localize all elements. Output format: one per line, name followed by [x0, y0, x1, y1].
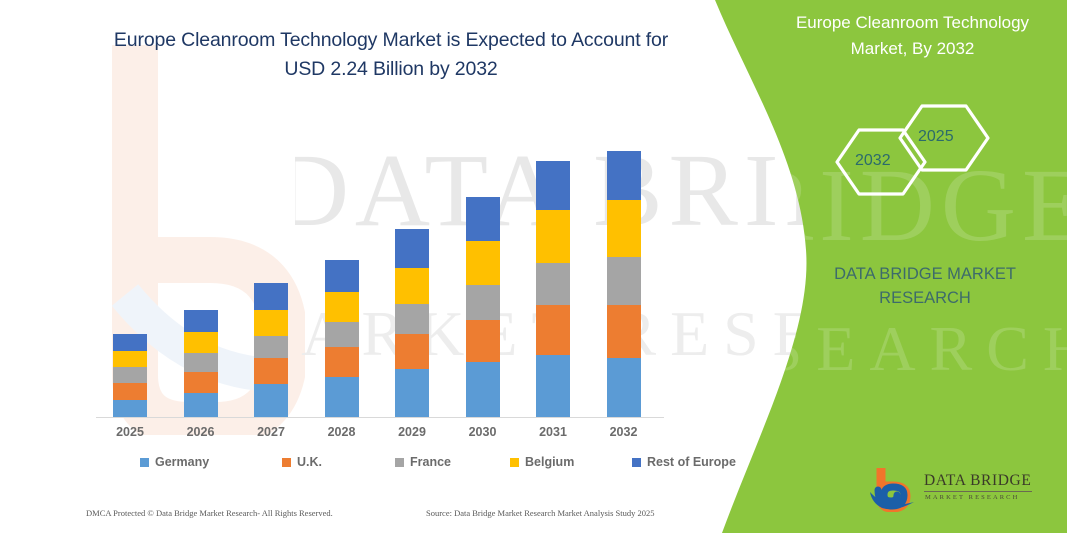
bar-segment-france-2032: [607, 257, 641, 305]
bar-segment-belgium-2032: [607, 200, 641, 257]
db-logo-mark: [868, 468, 920, 512]
bar-segment-france-2028: [325, 322, 359, 347]
x-axis-labels: 20252026202720282029203020312032: [96, 425, 666, 445]
bar-segment-u-k-2028: [325, 347, 359, 377]
company-logo: DATA BRIDGE MARKET RESEARCH: [868, 468, 1038, 514]
x-axis-label-2032: 2032: [594, 425, 654, 439]
bar-segment-rest-of-europe-2025: [113, 334, 147, 351]
bar-stack-2032: [607, 151, 641, 417]
x-axis-label-2031: 2031: [523, 425, 583, 439]
legend-swatch-icon: [140, 458, 149, 467]
bar-segment-u-k-2026: [184, 372, 218, 393]
legend-item-germany[interactable]: Germany: [140, 455, 209, 469]
bar-segment-belgium-2027: [254, 310, 288, 336]
bar-segment-belgium-2031: [536, 210, 570, 263]
bar-segment-france-2026: [184, 353, 218, 372]
x-axis-label-2027: 2027: [241, 425, 301, 439]
footer-copyright: DMCA Protected © Data Bridge Market Rese…: [86, 508, 333, 518]
legend-swatch-icon: [282, 458, 291, 467]
x-axis-label-2026: 2026: [171, 425, 231, 439]
bar-segment-rest-of-europe-2027: [254, 283, 288, 310]
infographic-canvas: DATA BRIDGE MARKET RESEARCH BRIDGE RESEA…: [0, 0, 1067, 533]
legend-label: France: [410, 455, 451, 469]
chart-title: Europe Cleanroom Technology Market is Ex…: [96, 26, 686, 84]
bar-segment-germany-2026: [184, 393, 218, 417]
bar-segment-rest-of-europe-2031: [536, 161, 570, 210]
bar-stack-2031: [536, 161, 570, 417]
legend-label: Belgium: [525, 455, 574, 469]
bar-segment-germany-2027: [254, 384, 288, 417]
x-axis-label-2028: 2028: [312, 425, 372, 439]
bar-segment-france-2027: [254, 336, 288, 358]
brand-name: DATA BRIDGE MARKET RESEARCH: [800, 262, 1050, 310]
bar-segment-rest-of-europe-2030: [466, 197, 500, 241]
legend-swatch-icon: [632, 458, 641, 467]
bar-segment-rest-of-europe-2029: [395, 229, 429, 268]
bar-segment-france-2031: [536, 263, 570, 305]
bar-stack-2026: [184, 310, 218, 417]
bar-segment-france-2029: [395, 304, 429, 334]
legend-item-u-k[interactable]: U.K.: [282, 455, 322, 469]
bar-stack-2027: [254, 283, 288, 417]
bar-segment-rest-of-europe-2026: [184, 310, 218, 332]
x-axis-line: [96, 417, 664, 418]
legend-swatch-icon: [395, 458, 404, 467]
bar-segment-u-k-2032: [607, 305, 641, 358]
svg-text:RESEARCH: RESEARCH: [657, 313, 1067, 384]
bar-segment-u-k-2025: [113, 383, 147, 400]
bar-segment-belgium-2029: [395, 268, 429, 304]
chart-legend: GermanyU.K.FranceBelgiumRest of Europe: [110, 455, 670, 475]
bar-segment-u-k-2030: [466, 320, 500, 362]
legend-label: U.K.: [297, 455, 322, 469]
footer-source: Source: Data Bridge Market Research Mark…: [426, 508, 655, 518]
bar-stack-2029: [395, 229, 429, 417]
legend-label: Rest of Europe: [647, 455, 736, 469]
legend-item-belgium[interactable]: Belgium: [510, 455, 574, 469]
bar-segment-germany-2025: [113, 400, 147, 417]
legend-swatch-icon: [510, 458, 519, 467]
bar-segment-germany-2028: [325, 377, 359, 417]
bar-segment-germany-2032: [607, 358, 641, 417]
bar-segment-belgium-2030: [466, 241, 500, 285]
bar-segment-france-2025: [113, 367, 147, 383]
bar-segment-germany-2029: [395, 369, 429, 417]
bar-chart-plot-area: [96, 140, 666, 418]
x-axis-label-2025: 2025: [100, 425, 160, 439]
x-axis-label-2029: 2029: [382, 425, 442, 439]
logo-text-main: DATA BRIDGE: [924, 472, 1031, 490]
bar-segment-u-k-2029: [395, 334, 429, 369]
x-axis-label-2030: 2030: [453, 425, 513, 439]
bar-segment-rest-of-europe-2028: [325, 260, 359, 292]
bar-segment-belgium-2026: [184, 332, 218, 353]
bar-stack-2030: [466, 197, 500, 417]
bar-segment-germany-2030: [466, 362, 500, 417]
bar-segment-belgium-2025: [113, 351, 147, 367]
legend-label: Germany: [155, 455, 209, 469]
side-panel-title: Europe Cleanroom Technology Market, By 2…: [770, 10, 1055, 62]
bar-segment-germany-2031: [536, 355, 570, 417]
hexagon-2032-label: 2032: [855, 152, 891, 170]
bar-stack-2028: [325, 260, 359, 417]
legend-item-rest-of-europe[interactable]: Rest of Europe: [632, 455, 736, 469]
bar-segment-u-k-2031: [536, 305, 570, 355]
bar-segment-belgium-2028: [325, 292, 359, 322]
logo-text-sub: MARKET RESEARCH: [925, 494, 1019, 501]
hexagon-group: 2032 2025: [815, 90, 995, 220]
logo-divider: [924, 491, 1032, 492]
bar-segment-france-2030: [466, 285, 500, 320]
bar-stack-2025: [113, 334, 147, 417]
bar-segment-rest-of-europe-2032: [607, 151, 641, 200]
bar-segment-u-k-2027: [254, 358, 288, 384]
legend-item-france[interactable]: France: [395, 455, 451, 469]
hexagon-2025-label: 2025: [918, 128, 954, 146]
